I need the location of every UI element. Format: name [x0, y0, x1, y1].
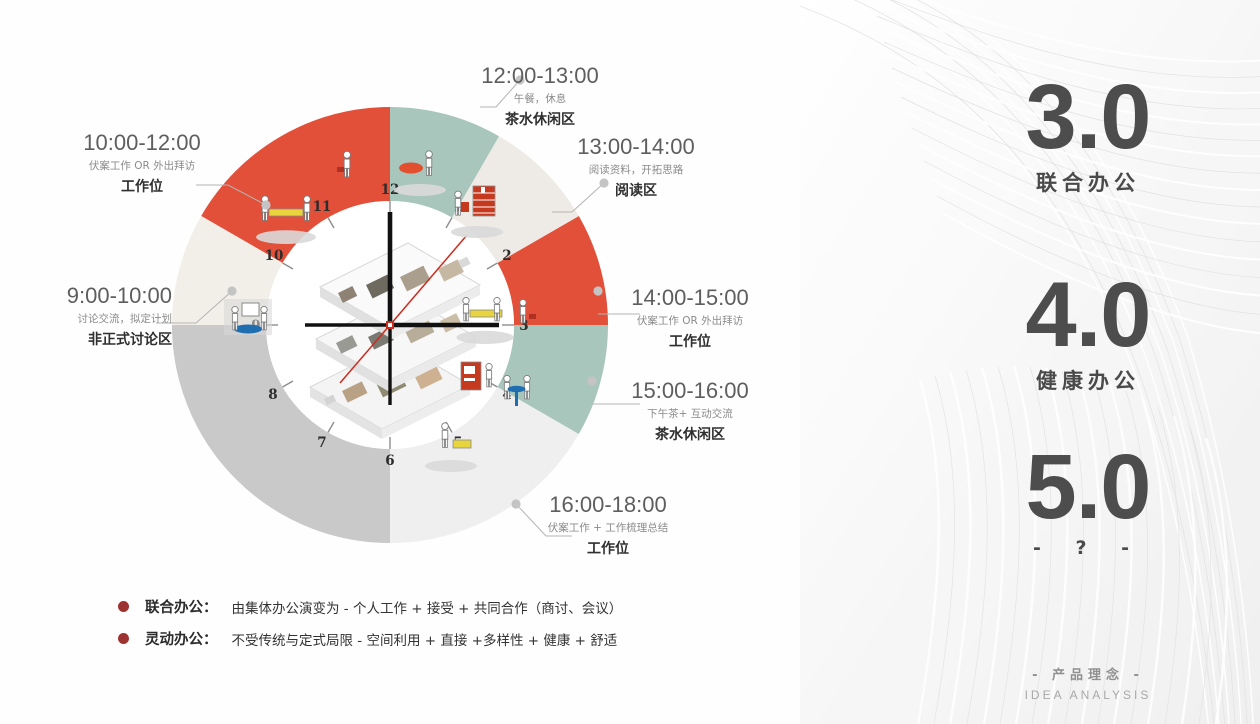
label-1000: 10:00-12:00 伏案工作 OR 外出拜访 工作位: [62, 130, 222, 196]
version-number: 5.0: [958, 444, 1218, 531]
version-caption: 联合办公: [958, 167, 1218, 197]
version-number: 4.0: [958, 272, 1218, 359]
label-time: 13:00-14:00: [556, 134, 716, 160]
label-zone: 茶水休闲区: [610, 424, 770, 444]
label-zone: 工作位: [528, 538, 688, 558]
legend: 联合办公 ： 由集体办公演变为 - 个人工作 + 接受 + 共同合作（商讨、会议…: [118, 596, 622, 660]
leader-dot-0900: [227, 286, 236, 295]
legend-colon: ：: [203, 628, 218, 649]
label-0900: 9:00-10:00 讨论交流，拟定计划 非正式讨论区: [22, 283, 172, 349]
leader-dot-1600: [511, 499, 520, 508]
version-5-group: 5.0 - ? -: [958, 444, 1218, 559]
version-3-group: 3.0 联合办公: [958, 74, 1218, 197]
leader-dot-1500: [587, 376, 596, 385]
label-time: 10:00-12:00: [62, 130, 222, 156]
legend-value: 不受传统与定式局限 - 空间利用 + 直接 +多样性 + 健康 + 舒适: [232, 629, 618, 649]
legend-key: 联合办公: [145, 596, 203, 617]
label-subtitle: 伏案工作 OR 外出拜访: [62, 158, 222, 173]
legend-bullet-icon: [118, 601, 129, 612]
label-subtitle: 讨论交流，拟定计划: [22, 311, 172, 326]
version-panel: 3.0 联合办公 4.0 健康办公 5.0 - ? - - 产品理念 - IDE…: [800, 0, 1260, 724]
slide-canvas: 12 1 2 3 4 5 6 7 8 9 10 11: [0, 0, 1260, 724]
legend-key: 灵动办公: [145, 628, 203, 649]
label-1300: 13:00-14:00 阅读资料，开拓思路 阅读区: [556, 134, 716, 200]
label-zone: 工作位: [610, 331, 770, 351]
legend-bullet-icon: [118, 633, 129, 644]
version-caption: 健康办公: [958, 365, 1218, 395]
label-subtitle: 伏案工作 + 工作梳理总结: [528, 520, 688, 535]
label-time: 15:00-16:00: [610, 378, 770, 404]
label-1500: 15:00-16:00 下午茶+ 互动交流 茶水休闲区: [610, 378, 770, 444]
label-subtitle: 阅读资料，开拓思路: [556, 162, 716, 177]
legend-colon: ：: [203, 596, 218, 617]
footer-title-en: IDEA ANALYSIS: [958, 688, 1218, 702]
label-zone: 茶水休闲区: [460, 109, 620, 129]
label-zone: 阅读区: [556, 180, 716, 200]
label-subtitle: 午餐，休息: [460, 91, 620, 106]
label-subtitle: 伏案工作 OR 外出拜访: [610, 313, 770, 328]
leader-dot-1000: [261, 200, 270, 209]
legend-value: 由集体办公演变为 - 个人工作 + 接受 + 共同合作（商讨、会议）: [232, 597, 623, 617]
label-zone: 工作位: [62, 176, 222, 196]
label-time: 14:00-15:00: [610, 285, 770, 311]
leader-dot-1400: [593, 286, 602, 295]
label-subtitle: 下午茶+ 互动交流: [610, 406, 770, 421]
version-number: 3.0: [958, 74, 1218, 161]
label-time: 12:00-13:00: [460, 63, 620, 89]
legend-row: 联合办公 ： 由集体办公演变为 - 个人工作 + 接受 + 共同合作（商讨、会议…: [118, 596, 622, 617]
footer-title-cn: - 产品理念 -: [958, 664, 1218, 683]
version-4-group: 4.0 健康办公: [958, 272, 1218, 395]
label-1600: 16:00-18:00 伏案工作 + 工作梳理总结 工作位: [528, 492, 688, 558]
label-time: 16:00-18:00: [528, 492, 688, 518]
clock-infographic: 12 1 2 3 4 5 6 7 8 9 10 11: [0, 0, 810, 724]
label-time: 9:00-10:00: [22, 283, 172, 309]
legend-row: 灵动办公 ： 不受传统与定式局限 - 空间利用 + 直接 +多样性 + 健康 +…: [118, 628, 622, 649]
version-caption: - ? -: [958, 537, 1218, 559]
label-1200: 12:00-13:00 午餐，休息 茶水休闲区: [460, 63, 620, 129]
label-1400: 14:00-15:00 伏案工作 OR 外出拜访 工作位: [610, 285, 770, 351]
label-zone: 非正式讨论区: [22, 329, 172, 349]
panel-footer: - 产品理念 - IDEA ANALYSIS: [958, 664, 1218, 702]
